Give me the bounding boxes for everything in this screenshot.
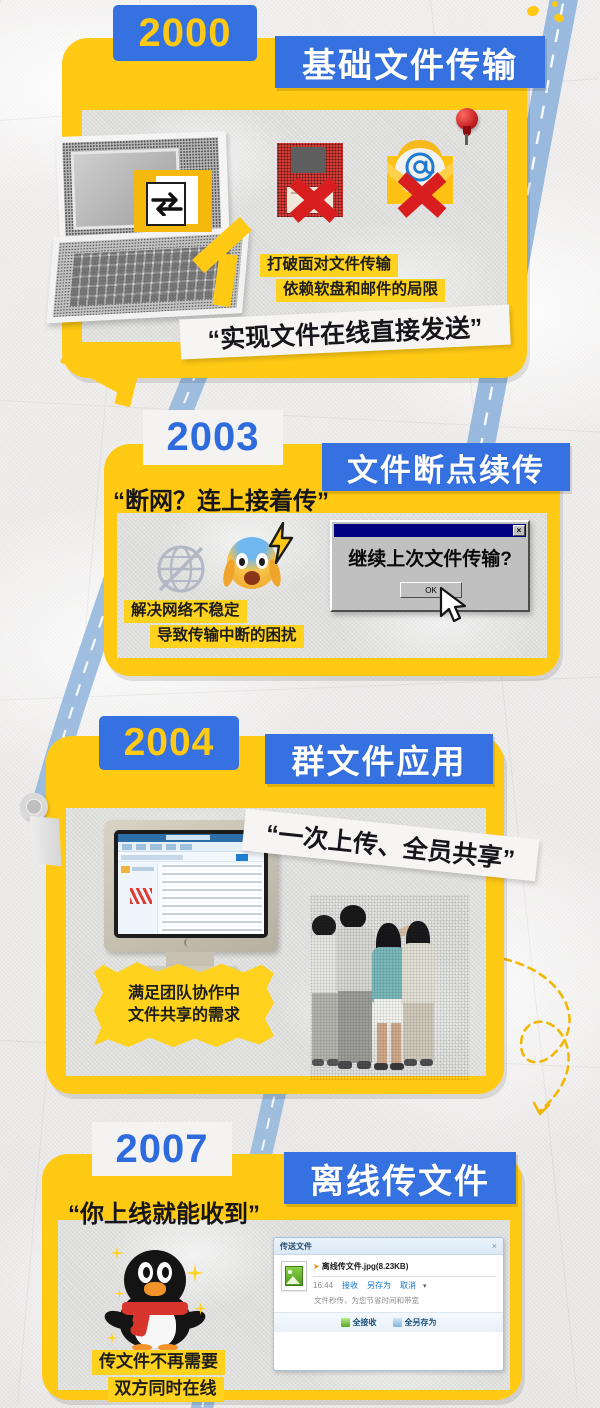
qq-file-row: ➤离线传文件.jpg(8.23KB) 16:44 接收 另存为 取消 ▾	[274, 1255, 503, 1291]
qq-panel-title: 传送文件	[280, 1241, 312, 1252]
receive-all-button[interactable]: 全接收	[341, 1317, 377, 1328]
caption-line: 依赖软盘和邮件的局限	[260, 279, 445, 302]
year-badge-2004: 2004	[99, 716, 239, 770]
save-as-link[interactable]: 另存为	[367, 1280, 391, 1291]
download-icon	[341, 1318, 350, 1327]
year-label: 2007	[116, 1127, 209, 1172]
receive-link[interactable]: 接收	[342, 1280, 358, 1291]
caption-2000: 打破面对文件传输 依赖软盘和邮件的局限	[260, 254, 445, 304]
globe-offline-icon	[152, 540, 210, 598]
title-label: 离线传文件	[310, 1154, 490, 1203]
caption-line: 文件共享的需求	[128, 1005, 240, 1027]
win95-title-bar: ×	[334, 524, 526, 537]
save-all-as-button[interactable]: 全另存为	[393, 1317, 437, 1328]
infographic-page: 2000 基础文件传输	[0, 0, 600, 1408]
red-cross-icon	[393, 170, 451, 220]
title-badge-2004: 群文件应用	[265, 734, 493, 784]
qq-panel-titlebar: 传送文件 ×	[274, 1238, 503, 1255]
win95-message: 继续上次文件传输?	[332, 544, 528, 571]
floppy-disk-crossed-icon	[277, 143, 343, 217]
chevron-down-icon[interactable]: ▾	[423, 1282, 427, 1290]
qq-penguin-icon	[102, 1240, 212, 1350]
quote-label: “你上线就能收到”	[68, 1201, 260, 1228]
qq-file-name: ➤离线传文件.jpg(8.23KB)	[313, 1261, 496, 1272]
title-label: 基础文件传输	[302, 38, 518, 87]
caption-line: 解决网络不稳定	[124, 600, 304, 623]
sparkle-icon	[110, 1246, 124, 1260]
year-badge-2007: 2007	[92, 1122, 232, 1176]
caption-line: 满足团队协作中	[128, 983, 240, 1005]
win95-dialog[interactable]: × 继续上次文件传输? OK	[330, 520, 530, 612]
sparkle-icon	[106, 1332, 118, 1344]
section-2000: 2000 基础文件传输	[0, 0, 600, 390]
quote-label: “断网？连上接着传”	[113, 488, 329, 515]
caption-2003: 解决网络不稳定 导致传输中断的困扰	[124, 600, 304, 650]
image-file-thumbnail	[281, 1261, 307, 1291]
mouse-cursor-icon	[438, 586, 470, 626]
year-label: 2000	[139, 11, 232, 56]
section-2003: 2003 文件断点续传 “断网？连上接着传”	[0, 400, 600, 700]
year-badge-2000: 2000	[113, 5, 257, 61]
title-label: 文件断点续传	[347, 445, 545, 490]
caption-2007: 传文件不再需要 双方同时在线	[92, 1350, 225, 1404]
red-pushpin-icon	[452, 108, 482, 146]
fast-transfer-icon: ➤	[313, 1262, 320, 1271]
caption-burst-2004: 满足团队协作中 文件共享的需求	[94, 962, 274, 1048]
floppy-save-icon	[393, 1318, 402, 1327]
caption-line: 打破面对文件传输	[260, 254, 445, 277]
caption-line: 导致传输中断的困扰	[124, 625, 304, 648]
close-icon[interactable]: ×	[492, 1242, 497, 1251]
qq-note: 文件秒传，为您节省时间和带宽	[274, 1291, 503, 1306]
qq-file-transfer-panel[interactable]: 传送文件 × ➤离线传文件.jpg(8.23KB) 16:44 接收 另存为	[273, 1237, 504, 1371]
sparkle-icon	[114, 1288, 125, 1299]
year-label: 2004	[124, 721, 215, 765]
qq-action-row: 16:44 接收 另存为 取消 ▾	[313, 1280, 496, 1291]
retro-computer-icon	[42, 126, 252, 326]
quote-2007: “你上线就能收到”	[68, 1194, 260, 1229]
email-envelope-crossed-icon	[381, 140, 459, 218]
caption-line: 传文件不再需要	[92, 1350, 225, 1375]
cancel-link[interactable]: 取消	[400, 1280, 416, 1291]
qq-panel-footer: 全接收 全另存为	[274, 1312, 503, 1332]
quote-2003: “断网？连上接着传”	[113, 481, 329, 516]
lightning-bolt-icon	[265, 522, 297, 564]
red-cross-icon	[285, 175, 343, 225]
caption-line: 双方同时在线	[92, 1377, 225, 1402]
title-badge-2000: 基础文件传输	[275, 36, 545, 88]
people-group-photo	[310, 895, 470, 1080]
qq-timestamp: 16:44	[313, 1281, 333, 1290]
title-badge-2003: 文件断点续传	[322, 443, 570, 491]
title-label: 群文件应用	[292, 735, 467, 783]
file-transfer-arrows-icon	[134, 170, 212, 232]
year-label: 2003	[167, 415, 260, 460]
title-badge-2007: 离线传文件	[284, 1152, 516, 1204]
sparkle-icon	[186, 1264, 204, 1282]
year-badge-2003: 2003	[143, 410, 283, 465]
section-2007: 2007 离线传文件 “你上线就能收到”	[0, 1112, 600, 1408]
close-icon[interactable]: ×	[513, 525, 525, 536]
section-2004: 2004 群文件应用	[0, 700, 600, 1112]
